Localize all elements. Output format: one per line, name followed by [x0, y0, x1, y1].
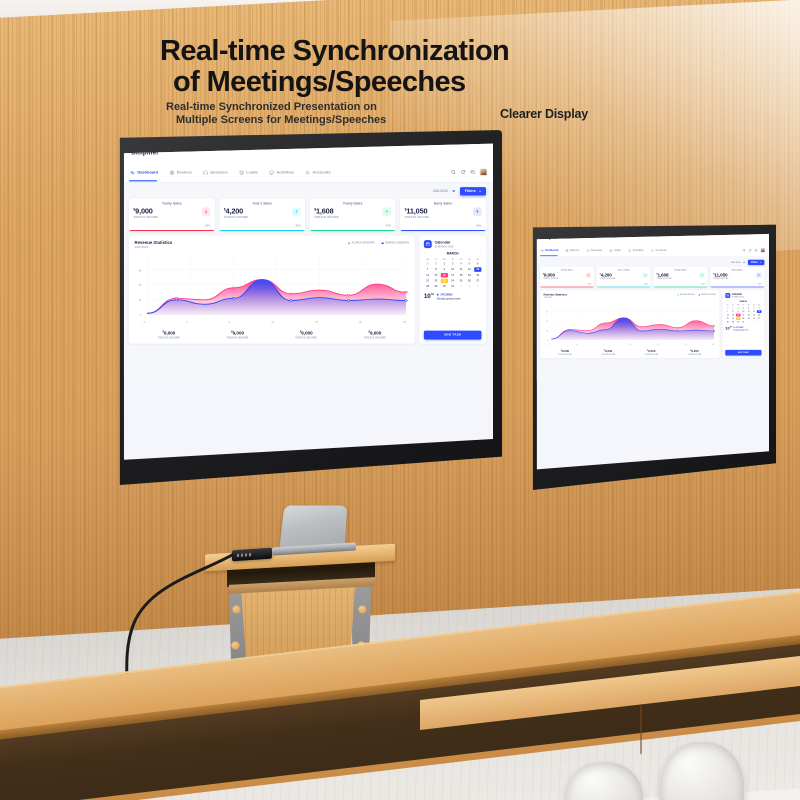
footer-stat: $9,000 TODAYS INCOME [587, 350, 630, 356]
y-axis-tick: 40 [139, 284, 142, 287]
avatar[interactable] [760, 248, 765, 253]
chart-legend-item[interactable]: ALPHA GROUPS [348, 242, 375, 245]
filters-button[interactable]: Filters [460, 187, 486, 195]
stat-card-percent: 84% [295, 224, 300, 227]
stat-card-subtitle: TODAYS INCOME [133, 216, 158, 219]
secondary-display[interactable]: Simplifer Dashboard Devices Sessions Lea… [528, 222, 776, 490]
calendar-day[interactable]: 27 [757, 317, 762, 320]
stat-card-value: $4,200 [600, 272, 615, 277]
podium-accent-dot [231, 641, 240, 650]
stat-trend-up-icon [383, 207, 391, 215]
stat-trend-down-icon [586, 272, 591, 277]
calendar-dow: WE [441, 258, 449, 260]
chevron-right-icon[interactable]: › [761, 301, 762, 303]
footer-stat-label: TODAYS INCOME [587, 353, 630, 355]
stat-card-accent-bar [129, 230, 215, 231]
dashboard-nav[interactable]: Dashboard Devices Sessions Leads Activit… [535, 245, 769, 257]
nav-item-label: Activities [276, 171, 294, 175]
nav-item-activities[interactable]: Activities [628, 249, 644, 252]
revenue-chart[interactable]: 6040200 [544, 300, 717, 343]
event-dot-icon [734, 327, 735, 328]
nav-item-label: Devices [177, 171, 192, 175]
chevron-down-icon[interactable] [743, 262, 745, 263]
chart-legend-item[interactable]: OMEGA GROUPS [381, 242, 409, 245]
footer-stats-row: $9,000 TODAYS INCOME $9,000 TODAYS INCOM… [135, 327, 410, 340]
calendar-day[interactable]: 5 [466, 261, 474, 266]
calendar-icon [424, 240, 432, 248]
calendar-day[interactable]: 13 [757, 310, 762, 313]
stat-card-percent: 84% [645, 283, 648, 285]
desk-seam [640, 706, 642, 754]
event-text: Design group meet [734, 329, 749, 331]
stat-card[interactable]: Early Sales $11,050 TODAYS INCOME 84% [400, 198, 486, 231]
calendar-day[interactable]: 1 [457, 284, 465, 289]
calendar-event[interactable]: 10TH UPCOMING Design group meet [424, 293, 482, 300]
legend-label: OMEGA GROUPS [385, 242, 409, 245]
x-axis-tick: 24 [712, 344, 714, 346]
nav-item-label: Accounts [655, 249, 666, 251]
stat-card-title: Early Sales [405, 202, 482, 205]
nav-item-devices[interactable]: Devices [565, 249, 579, 252]
calendar-day[interactable]: 21 [424, 278, 432, 283]
add-task-button[interactable]: ADD TASK [424, 330, 482, 339]
title-line-2: of Meetings/Speeches [160, 67, 720, 98]
plus-icon [760, 261, 762, 263]
headphones-icon [586, 249, 589, 252]
y-axis-tick: 20 [546, 330, 548, 332]
x-axis-tick: 8 [229, 321, 230, 324]
period-label[interactable]: JAN 2022 [731, 261, 741, 263]
y-axis-tick: 0 [140, 314, 141, 317]
footer-stat-label: TODAYS INCOME [673, 353, 716, 355]
y-axis-tick: 20 [139, 299, 142, 302]
nav-item-dashboard[interactable]: Dashboard [541, 249, 559, 252]
calendar-day[interactable]: 3 [757, 321, 762, 324]
stat-card-percent: 84% [758, 283, 761, 285]
stat-card-accent-bar [219, 230, 305, 231]
stat-card-value: $9,000 [133, 207, 158, 214]
event-day: 10TH [424, 293, 434, 299]
footer-stat-value: $9,000 [135, 330, 204, 335]
chevron-right-icon[interactable]: › [480, 252, 481, 255]
y-axis: 6040200 [135, 251, 143, 320]
calendar-day[interactable]: 6 [474, 261, 482, 266]
calendar-day[interactable]: 1 [731, 306, 736, 309]
calendar-day[interactable]: 28 [424, 284, 432, 289]
x-axis-tick: 4 [576, 344, 577, 346]
calendar-day[interactable]: 22 [432, 278, 440, 283]
calendar-day[interactable]: 24 [449, 278, 457, 283]
x-axis: 04812162024 [544, 343, 717, 345]
calendar-day[interactable]: 2 [752, 321, 757, 324]
calendar-day[interactable]: 27 [474, 278, 482, 283]
panels-row: Revenue Statistics JAN 2022 ALPHA GROUPS… [129, 236, 486, 344]
calendar-dow: SU [474, 258, 482, 260]
calendar-day[interactable]: 1 [432, 261, 440, 266]
calendar-day[interactable]: 4 [457, 261, 465, 266]
calendar-day[interactable]: 15 [731, 313, 736, 316]
chart-subtitle: JAN 2022 [544, 297, 568, 299]
footer-stat-label: TODAYS INCOME [135, 336, 204, 339]
footer-stat: $9,000 TODAYS INCOME [203, 330, 272, 339]
dashboard-body: JAN 2022 Filters Yearly Sales $9,000 TOD… [535, 257, 769, 358]
nav-item-label: Dashboard [137, 171, 158, 175]
event-dot-icon [437, 294, 439, 296]
stat-card-accent-bar [597, 286, 651, 287]
users-icon [305, 170, 310, 175]
nav-item-leads[interactable]: Leads [239, 170, 258, 175]
x-axis-tick: 16 [657, 344, 659, 346]
legend-swatch [699, 294, 700, 295]
search-icon[interactable] [742, 249, 745, 252]
calendar-day[interactable]: 25 [746, 317, 751, 320]
activity-icon [541, 249, 544, 252]
layers-icon [609, 249, 612, 252]
calendar-day[interactable]: 19 [752, 313, 757, 316]
stat-card[interactable]: Year's Sales $4,200 TODAYS INCOME 84% [597, 267, 651, 288]
stat-card-accent-bar [310, 230, 396, 231]
x-axis-tick: 0 [144, 321, 145, 324]
headphones-icon [203, 170, 208, 175]
calendar-day[interactable]: 29 [731, 321, 736, 324]
stat-card[interactable]: Yearly Sales $1,608 TODAYS INCOME 84% [654, 267, 708, 288]
calendar-day[interactable]: 12 [466, 267, 474, 272]
footer-stat: $9,000 TODAYS INCOME [544, 350, 587, 356]
calendar-day[interactable]: 22 [731, 317, 736, 320]
stat-card-subtitle: TODAYS INCOME [405, 216, 430, 219]
calendar-day[interactable]: 31 [449, 284, 457, 289]
x-axis-tick: 12 [629, 344, 631, 346]
footer-stat-label: TODAYS INCOME [341, 336, 410, 339]
calendar-nav[interactable]: ‹ MARCH › [424, 252, 482, 255]
nav-item-activities[interactable]: Activities [269, 170, 294, 175]
stat-card-title: Yearly Sales [314, 202, 391, 205]
nav-item-dashboard[interactable]: Dashboard [130, 170, 158, 175]
stat-card-percent: 84% [701, 283, 704, 285]
footer-stat: $9,000 TODAYS INCOME [341, 330, 410, 339]
period-label[interactable]: JAN 2022 [433, 190, 448, 193]
nav-item-sessions[interactable]: Sessions [586, 249, 602, 252]
calendar-day[interactable]: 18 [746, 313, 751, 316]
toolbar-icons[interactable] [451, 168, 487, 175]
calendar-day[interactable]: 14 [424, 273, 432, 278]
panels-row: Revenue Statistics JAN 2022 ALPHA GROUPS… [540, 290, 764, 358]
cpu-icon [169, 170, 174, 175]
refresh-icon[interactable] [748, 249, 751, 252]
stat-trend-up-icon [473, 207, 481, 215]
stat-card-percent: 84% [588, 283, 591, 285]
dashboard-body: JAN 2022 Filters Yearly Sales $9,000 TOD… [121, 183, 493, 344]
subtitle-line-1: Real-time Synchronized Presentation on [166, 101, 496, 114]
calendar-grid[interactable]: MOTUWETHFRSASU28123456789101112131415161… [725, 304, 761, 323]
stat-card-percent: 84% [476, 224, 481, 227]
monitor-icon [628, 249, 631, 252]
stat-card-value: $1,608 [314, 207, 339, 214]
stat-card-title: Year's Sales [600, 269, 648, 271]
calendar-dow: TH [449, 258, 457, 260]
activity-icon [130, 170, 135, 175]
nav-item-sessions[interactable]: Sessions [203, 170, 228, 175]
stat-trend-up-icon [756, 272, 761, 277]
calendar-month-label: MARCH [447, 252, 459, 255]
stat-card-accent-bar [540, 286, 594, 287]
nav-item-label: Accounts [313, 171, 331, 175]
stat-card[interactable]: Yearly Sales $9,000 TODAYS INCOME 84% [129, 198, 215, 231]
cpu-icon [565, 249, 568, 252]
filters-button-label: Filters [465, 189, 476, 193]
stat-card-subtitle: TODAYS INCOME [224, 216, 249, 219]
calendar-day[interactable]: 15 [432, 273, 440, 278]
stat-card-subtitle: TODAYS INCOME [713, 278, 728, 280]
legend-label: ALPHA GROUPS [680, 294, 695, 296]
calendar-event[interactable]: 10TH UPCOMING Design group meet [725, 326, 761, 330]
calendar-day[interactable]: 31 [741, 321, 746, 324]
calendar-day[interactable]: 5 [752, 306, 757, 309]
title-line-1: Real-time Synchronization [160, 36, 720, 67]
calendar-day[interactable]: 13 [474, 267, 482, 272]
stat-card-value: $11,050 [713, 272, 728, 277]
copy-icon[interactable] [470, 170, 475, 175]
calendar-day[interactable]: 23 [736, 317, 741, 320]
nav-item-label: Sessions [210, 171, 227, 175]
nav-item-accounts[interactable]: Accounts [305, 170, 330, 175]
footer-stat-value: $9,000 [203, 330, 272, 335]
podium-accent-dot [358, 605, 367, 614]
x-axis-tick: 4 [186, 321, 187, 324]
calendar-day[interactable]: 11 [746, 310, 751, 313]
legend-label: OMEGA GROUPS [701, 294, 716, 296]
copy-icon[interactable] [754, 249, 757, 252]
calendar-day[interactable]: 17 [449, 273, 457, 278]
stat-card-accent-bar [710, 286, 764, 287]
calendar-day[interactable]: 3 [449, 261, 457, 266]
stat-card-subtitle: TODAYS INCOME [543, 278, 558, 280]
calendar-day[interactable]: 10 [449, 267, 457, 272]
display-screen-main[interactable]: Simplifer Dashboard Devices Sessions Lea… [121, 143, 493, 463]
toolbar-icons[interactable] [742, 248, 765, 253]
calendar-day[interactable]: 7 [424, 267, 432, 272]
add-task-button[interactable]: ADD TASK [725, 350, 761, 356]
calendar-day[interactable]: 25 [457, 278, 465, 283]
primary-display[interactable]: Simplifer Dashboard Devices Sessions Lea… [112, 130, 502, 485]
calendar-day[interactable]: 3 [474, 284, 482, 289]
calendar-day[interactable]: 17 [741, 313, 746, 316]
calendar-day[interactable]: 30 [736, 321, 741, 324]
calendar-dow: FR [457, 258, 465, 260]
nav-item-label: Leads [246, 171, 257, 175]
nav-item-devices[interactable]: Devices [169, 170, 191, 175]
stat-card-title: Yearly Sales [543, 269, 591, 271]
plus-icon [479, 190, 482, 193]
footer-stat-value: $9,000 [341, 330, 410, 335]
nav-item-label: Activities [633, 249, 644, 251]
refresh-icon[interactable] [461, 170, 466, 175]
calendar-day[interactable]: 6 [757, 306, 762, 309]
calendar-day[interactable]: 28 [424, 261, 432, 266]
chart-legend[interactable]: ALPHA GROUPS OMEGA GROUPS [678, 293, 716, 296]
dashboard-second[interactable]: Simplifer Dashboard Devices Sessions Lea… [535, 232, 769, 381]
chart-subtitle: JAN 2022 [135, 246, 173, 249]
headline-block: Real-time Synchronization of Meetings/Sp… [0, 0, 800, 140]
calendar-dow: MO [424, 258, 432, 260]
y-axis-tick: 60 [139, 269, 142, 272]
x-axis-tick: 8 [603, 344, 604, 346]
calendar-day[interactable]: 28 [725, 321, 730, 324]
nav-item-accounts[interactable]: Accounts [651, 249, 667, 252]
page-title: Real-time Synchronization of Meetings/Sp… [160, 36, 720, 97]
stat-card[interactable]: Yearly Sales $9,000 TODAYS INCOME 84% [540, 267, 594, 288]
legend-swatch [678, 294, 679, 295]
footer-stat-label: TODAYS INCOME [203, 336, 272, 339]
dashboard-main[interactable]: Simplifer Dashboard Devices Sessions Lea… [121, 143, 493, 380]
calendar-day[interactable]: 1 [746, 321, 751, 324]
monitor-icon [269, 170, 274, 175]
calendar-day[interactable]: 24 [741, 317, 746, 320]
calendar-dow: SA [466, 258, 474, 260]
footer-stats-row: $9,000 TODAYS INCOME $9,000 TODAYS INCOM… [544, 348, 717, 356]
calendar-panel[interactable]: Calendar 02 MARCH 2022 ‹ MARCH › MOTUWET… [722, 290, 764, 358]
stat-trend-down-icon [202, 207, 210, 215]
stat-card-title: Year's Sales [224, 202, 301, 205]
calendar-day[interactable]: 11 [457, 267, 465, 272]
calendar-day[interactable]: 2 [466, 284, 474, 289]
footer-stat-label: TODAYS INCOME [544, 353, 587, 355]
laptop-lid [280, 505, 348, 547]
stat-card-subtitle: TODAYS INCOME [314, 216, 339, 219]
filters-row[interactable]: JAN 2022 Filters [129, 187, 486, 195]
calendar-day[interactable]: 9 [441, 267, 449, 272]
calendar-grid[interactable]: MOTUWETHFRSASU28123456789101112131415161… [424, 258, 482, 289]
chevron-down-icon[interactable] [452, 190, 455, 192]
calendar-day[interactable]: 14 [725, 313, 730, 316]
calendar-day[interactable]: 2 [441, 261, 449, 266]
nav-item-label: Dashboard [545, 249, 558, 251]
revenue-chart[interactable]: 6040200 [135, 251, 410, 320]
calendar-day[interactable]: 8 [432, 267, 440, 272]
legend-swatch [381, 242, 383, 244]
chevron-left-icon[interactable]: ‹ [725, 301, 726, 303]
x-axis-tick: 24 [403, 321, 406, 324]
stat-card-value: $1,608 [656, 272, 671, 277]
dashboard-nav[interactable]: Dashboard Devices Sessions Leads Activit… [121, 163, 493, 182]
calendar-date-label: 02 MARCH 2022 [435, 245, 454, 248]
stat-trend-up-icon [643, 272, 648, 277]
stat-card-title: Yearly Sales [656, 269, 704, 271]
calendar-nav[interactable]: ‹ MARCH › [725, 301, 761, 303]
chart-legend[interactable]: ALPHA GROUPS OMEGA GROUPS [348, 240, 409, 245]
calendar-day[interactable]: 12 [752, 310, 757, 313]
calendar-panel[interactable]: Calendar 02 MARCH 2022 ‹ MARCH › MOTUWET… [419, 236, 486, 344]
calendar-day[interactable]: 18 [457, 273, 465, 278]
calendar-day[interactable]: 21 [725, 317, 730, 320]
calendar-day[interactable]: 10 [741, 310, 746, 313]
filters-button-label: Filters [751, 261, 758, 263]
layers-icon [239, 170, 244, 175]
search-icon[interactable] [451, 170, 456, 175]
calendar-day[interactable]: 26 [466, 278, 474, 283]
calendar-icon [725, 293, 730, 298]
calendar-day[interactable]: 4 [746, 306, 751, 309]
podium-accent-dot [232, 605, 241, 614]
y-axis: 6040200 [544, 300, 549, 343]
calendar-day[interactable]: 28 [725, 306, 730, 309]
calendar-day[interactable]: 7 [725, 310, 730, 313]
x-axis: 04812162024 [135, 320, 410, 323]
calendar-day[interactable]: 16 [736, 313, 741, 316]
stat-card-subtitle: TODAYS INCOME [600, 278, 615, 280]
revenue-statistics-panel[interactable]: Revenue Statistics JAN 2022 ALPHA GROUPS… [129, 236, 415, 344]
legend-swatch [348, 242, 350, 244]
nav-item-leads[interactable]: Leads [609, 249, 621, 252]
calendar-day[interactable]: 20 [474, 273, 482, 278]
chevron-left-icon[interactable]: ‹ [424, 252, 425, 255]
event-tag: UPCOMING [437, 293, 461, 296]
stat-card-subtitle: TODAYS INCOME [656, 278, 671, 280]
stat-card[interactable]: Year's Sales $4,200 TODAYS INCOME 84% [219, 198, 305, 231]
stat-card-value: $9,000 [543, 272, 558, 277]
chart-title: Revenue Statistics [135, 240, 173, 245]
calendar-day[interactable]: 3 [741, 306, 746, 309]
stat-card[interactable]: Early Sales $11,050 TODAYS INCOME 84% [710, 267, 764, 288]
chart-legend-item[interactable]: ALPHA GROUPS [678, 294, 695, 296]
legend-label: ALPHA GROUPS [352, 242, 375, 245]
footer-stat-value: $9,000 [272, 330, 341, 335]
footer-stat-label: TODAYS INCOME [272, 336, 341, 339]
chart-legend-item[interactable]: OMEGA GROUPS [699, 294, 716, 296]
stat-card-title: Yearly Sales [133, 202, 210, 205]
laptop[interactable] [272, 505, 356, 553]
calendar-day[interactable]: 20 [757, 313, 762, 316]
event-text: Design group meet [437, 297, 461, 300]
footer-stat: $9,000 TODAYS INCOME [673, 350, 716, 356]
event-day: 10TH [725, 326, 731, 330]
y-axis-tick: 60 [546, 311, 548, 313]
stat-card-accent-bar [400, 230, 486, 231]
nav-item-label: Sessions [591, 249, 602, 251]
revenue-statistics-panel[interactable]: Revenue Statistics JAN 2022 ALPHA GROUPS… [540, 290, 720, 358]
tagline: Clearer Display [500, 107, 588, 121]
calendar-day[interactable]: 26 [752, 317, 757, 320]
footer-stat: $9,000 TODAYS INCOME [135, 330, 204, 339]
x-axis-tick: 16 [315, 321, 318, 324]
y-axis-tick: 0 [547, 339, 548, 341]
stat-trend-up-icon [292, 207, 300, 215]
stat-cards-row: Yearly Sales $9,000 TODAYS INCOME 84% Ye… [540, 267, 764, 288]
calendar-day[interactable]: 2 [736, 306, 741, 309]
calendar-month-label: MARCH [740, 301, 747, 303]
display-screen-second[interactable]: Simplifer Dashboard Devices Sessions Lea… [535, 232, 769, 473]
avatar[interactable] [480, 168, 487, 175]
calendar-day[interactable]: 19 [466, 273, 474, 278]
calendar-day[interactable]: 30 [441, 284, 449, 289]
calendar-day[interactable]: 29 [432, 284, 440, 289]
filters-button[interactable]: Filters [748, 260, 764, 265]
x-axis-tick: 12 [271, 321, 274, 324]
subtitle: Real-time Synchronized Presentation on M… [166, 101, 496, 128]
stat-card-title: Early Sales [713, 269, 761, 271]
nav-item-label: Devices [570, 249, 579, 251]
calendar-date-label: 02 MARCH 2022 [732, 296, 744, 298]
footer-stat: $9,000 TODAYS INCOME [630, 350, 673, 356]
calendar-dow: TU [432, 258, 440, 260]
stat-card-value: $4,200 [224, 207, 249, 214]
calendar-day[interactable]: 8 [731, 310, 736, 313]
calendar-day[interactable]: 23 [441, 278, 449, 283]
calendar-day[interactable]: 9 [736, 310, 741, 313]
filters-row[interactable]: JAN 2022 Filters [540, 260, 764, 265]
stat-card[interactable]: Yearly Sales $1,608 TODAYS INCOME 84% [310, 198, 396, 231]
calendar-day[interactable]: 16 [441, 273, 449, 278]
